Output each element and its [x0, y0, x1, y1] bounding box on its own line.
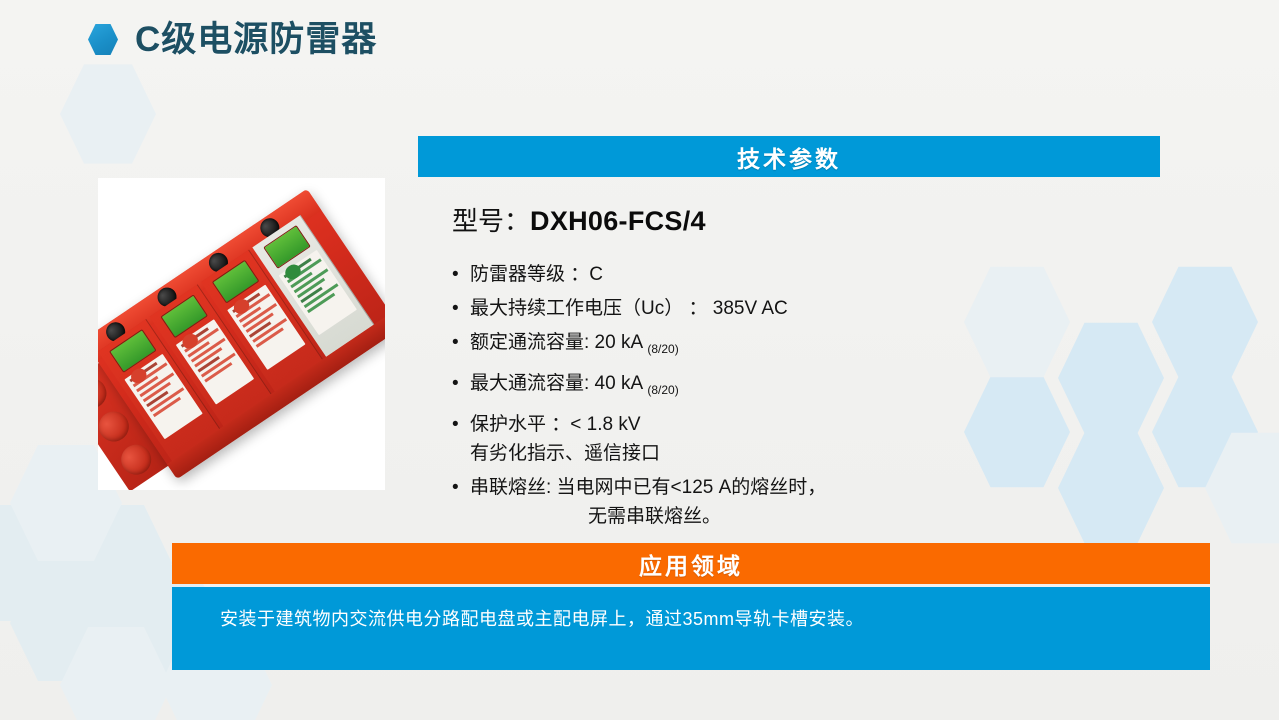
application-header: 应用领域 [172, 543, 1210, 584]
spec-subscript: (8/20) [647, 383, 678, 397]
spec-line: 最大持续工作电压（Uc） ： 385V AC [470, 294, 1112, 323]
hexagon-decor-icon [60, 622, 172, 720]
spec-line: 额定通流容量: 20 kA (8/20) [470, 328, 1112, 364]
product-image [98, 178, 385, 490]
spec-item: •防雷器等级 ：C [452, 260, 1112, 289]
hexagon-decor-icon [10, 560, 122, 686]
bullet-icon: • [452, 294, 470, 323]
bullet-icon: • [452, 410, 470, 439]
bullet-icon: • [452, 328, 470, 357]
hexagon-decor-icon [1152, 372, 1258, 492]
hexagon-icon [88, 23, 118, 56]
spec-line: 串联熔丝: 当电网中已有<125 A的熔丝时， [470, 473, 1112, 502]
hexagon-decor-icon [1205, 428, 1279, 548]
spec-item: •保护水平 ：< 1.8 kV有劣化指示、遥信接口 [452, 410, 1112, 468]
spec-item-body: 串联熔丝: 当电网中已有<125 A的熔丝时，无需串联熔丝。 [470, 473, 1112, 531]
spec-item: •最大通流容量: 40 kA (8/20) [452, 369, 1112, 405]
spec-subscript: (8/20) [647, 342, 678, 356]
hexagon-decor-icon [0, 500, 72, 626]
spec-line: 防雷器等级 ：C [470, 260, 1112, 289]
application-body-text: 安装于建筑物内交流供电分路配电盘或主配电屏上，通过35mm导轨卡槽安装。 [220, 606, 864, 632]
spec-line: 最大通流容量: 40 kA (8/20) [470, 369, 1112, 405]
hexagon-decor-icon [60, 500, 172, 626]
page-title: C级电源防雷器 [135, 22, 377, 57]
application-body: 安装于建筑物内交流供电分路配电盘或主配电屏上，通过35mm导轨卡槽安装。 [172, 587, 1210, 670]
hexagon-decor-icon [1152, 262, 1258, 382]
tech-params-header-label: 技术参数 [737, 140, 841, 174]
slide-root: C级电源防雷器 [0, 0, 1279, 720]
spec-item-body: 保护水平 ：< 1.8 kV有劣化指示、遥信接口 [470, 410, 1112, 468]
tech-spec-list: •防雷器等级 ：C•最大持续工作电压（Uc） ： 385V AC•额定通流容量:… [452, 260, 1112, 536]
model-line: 型号： DXH06-FCS/4 [452, 201, 706, 238]
model-value: DXH06-FCS/4 [530, 206, 706, 237]
spec-item: •串联熔丝: 当电网中已有<125 A的熔丝时，无需串联熔丝。 [452, 473, 1112, 531]
spec-item-body: 最大通流容量: 40 kA (8/20) [470, 369, 1112, 405]
bullet-icon: • [452, 369, 470, 398]
spec-line: 有劣化指示、遥信接口 [470, 439, 1112, 468]
application-header-label: 应用领域 [639, 547, 743, 581]
spec-item: •最大持续工作电压（Uc） ： 385V AC [452, 294, 1112, 323]
spec-line: 保护水平 ：< 1.8 kV [470, 410, 1112, 439]
spd-knob [115, 439, 157, 481]
spec-item: •额定通流容量: 20 kA (8/20) [452, 328, 1112, 364]
bullet-icon: • [452, 473, 470, 502]
model-label: 型号： [452, 201, 530, 238]
spec-item-body: 最大持续工作电压（Uc） ： 385V AC [470, 294, 1112, 323]
hexagon-decor-icon [60, 60, 156, 168]
page-title-row: C级电源防雷器 [88, 22, 377, 57]
surge-protector-illustration [98, 189, 385, 479]
bullet-icon: • [452, 260, 470, 289]
spd-knob [98, 406, 134, 448]
spec-item-body: 额定通流容量: 20 kA (8/20) [470, 328, 1112, 364]
tech-params-header: 技术参数 [418, 136, 1160, 177]
spec-item-body: 防雷器等级 ：C [470, 260, 1112, 289]
spec-line: 无需串联熔丝。 [470, 502, 1112, 531]
